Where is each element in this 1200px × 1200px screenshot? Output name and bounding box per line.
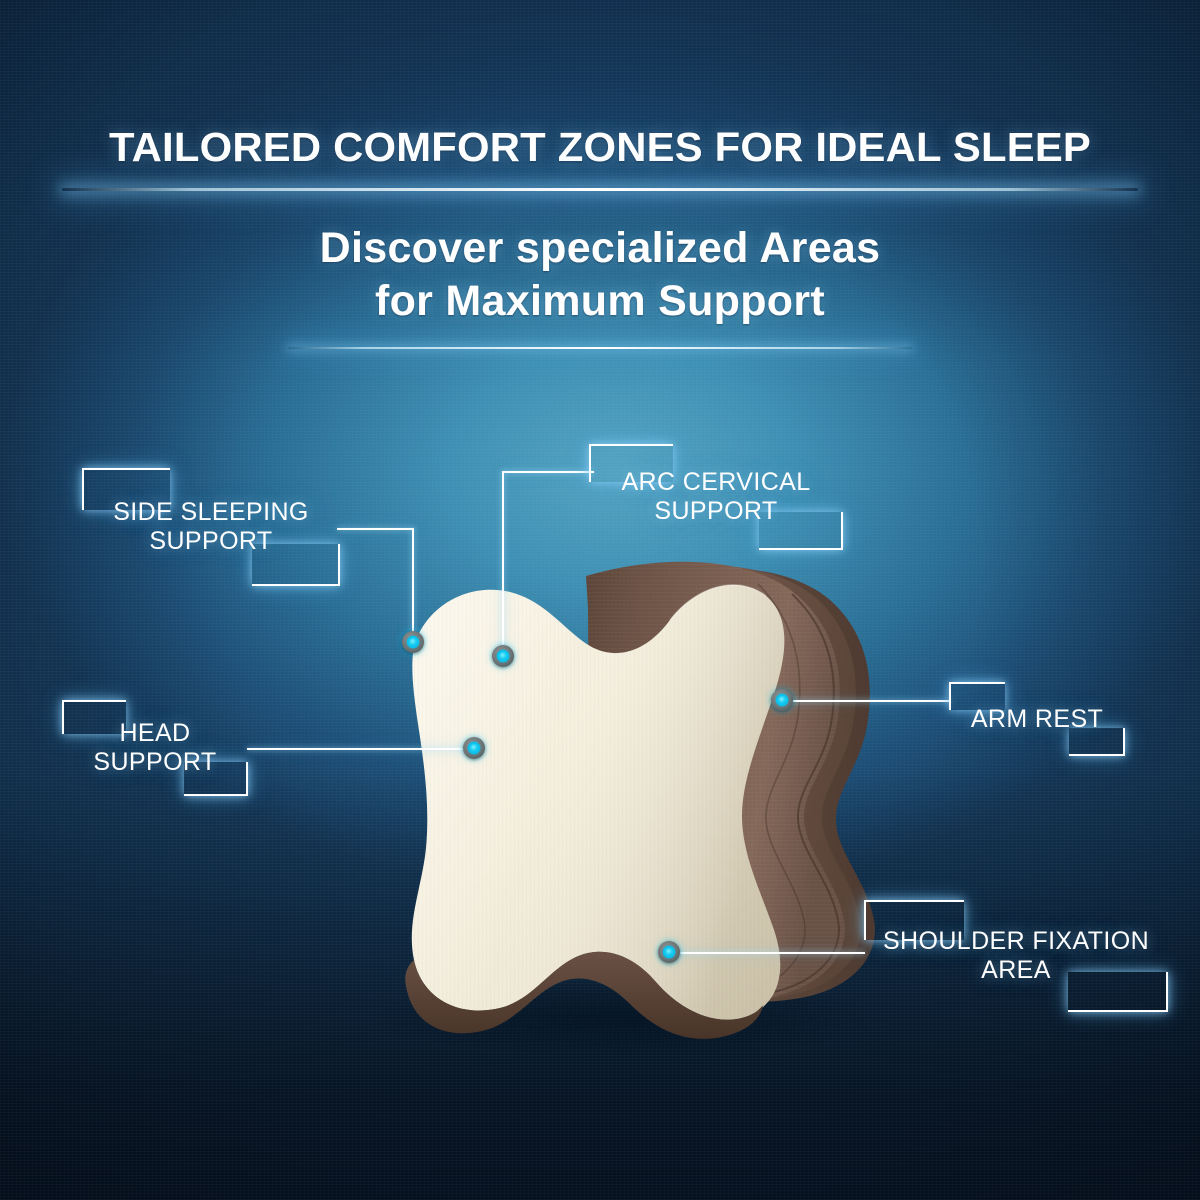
marker-side-sleeping-support[interactable] <box>402 631 424 653</box>
label-line-1: ARC CERVICAL <box>621 468 810 496</box>
label-line-2: AREA <box>981 956 1051 984</box>
label-line-1: HEAD <box>119 719 190 747</box>
leader-line-side-sleeping-h <box>337 528 414 530</box>
title-divider <box>62 188 1138 191</box>
callout-label-arm-rest: ARM REST <box>949 682 1125 756</box>
callout-arm-rest[interactable]: ARM REST <box>949 682 1125 756</box>
page-subtitle: Discover specialized Areas for Maximum S… <box>0 222 1200 329</box>
callout-label-head-support: HEAD SUPPORT <box>62 700 248 796</box>
marker-head-support[interactable] <box>463 737 485 759</box>
callout-label-side-sleeping-support: SIDE SLEEPING SUPPORT <box>82 468 340 586</box>
page-title: TAILORED COMFORT ZONES FOR IDEAL SLEEP <box>0 124 1200 171</box>
callout-arc-cervical-support[interactable]: ARC CERVICAL SUPPORT <box>589 444 843 550</box>
subtitle-divider <box>288 347 912 349</box>
callout-head-support[interactable]: HEAD SUPPORT <box>62 700 248 796</box>
marker-shoulder-fixation-area[interactable] <box>658 941 680 963</box>
subtitle-line-1: Discover specialized Areas <box>320 224 881 272</box>
product-image-neck-pillow <box>318 548 918 1048</box>
label-line-1: SIDE SLEEPING <box>113 498 309 526</box>
callout-side-sleeping-support[interactable]: SIDE SLEEPING SUPPORT <box>82 468 340 586</box>
label-line-1: SHOULDER FIXATION <box>883 927 1149 955</box>
subtitle-line-2: for Maximum Support <box>375 277 825 325</box>
marker-arc-cervical-support[interactable] <box>492 645 514 667</box>
label-line-2: SUPPORT <box>149 527 272 555</box>
callout-label-arc-cervical-support: ARC CERVICAL SUPPORT <box>589 444 843 550</box>
label-line-2: SUPPORT <box>93 748 216 776</box>
label-line-2: SUPPORT <box>654 497 777 525</box>
leader-line-arm-rest-h <box>783 700 950 702</box>
leader-line-head-support-h <box>247 748 475 750</box>
marker-arm-rest[interactable] <box>771 689 793 711</box>
callout-label-shoulder-fixation-area: SHOULDER FIXATION AREA <box>864 900 1168 1012</box>
leader-line-side-sleeping-v <box>412 528 414 642</box>
leader-line-arc-cervical-h <box>502 471 594 473</box>
leader-line-shoulder-fixation-h <box>670 952 865 954</box>
callout-shoulder-fixation-area[interactable]: SHOULDER FIXATION AREA <box>864 900 1168 1012</box>
infographic-canvas: TAILORED COMFORT ZONES FOR IDEAL SLEEP D… <box>0 0 1200 1200</box>
leader-line-arc-cervical-v <box>502 471 504 658</box>
